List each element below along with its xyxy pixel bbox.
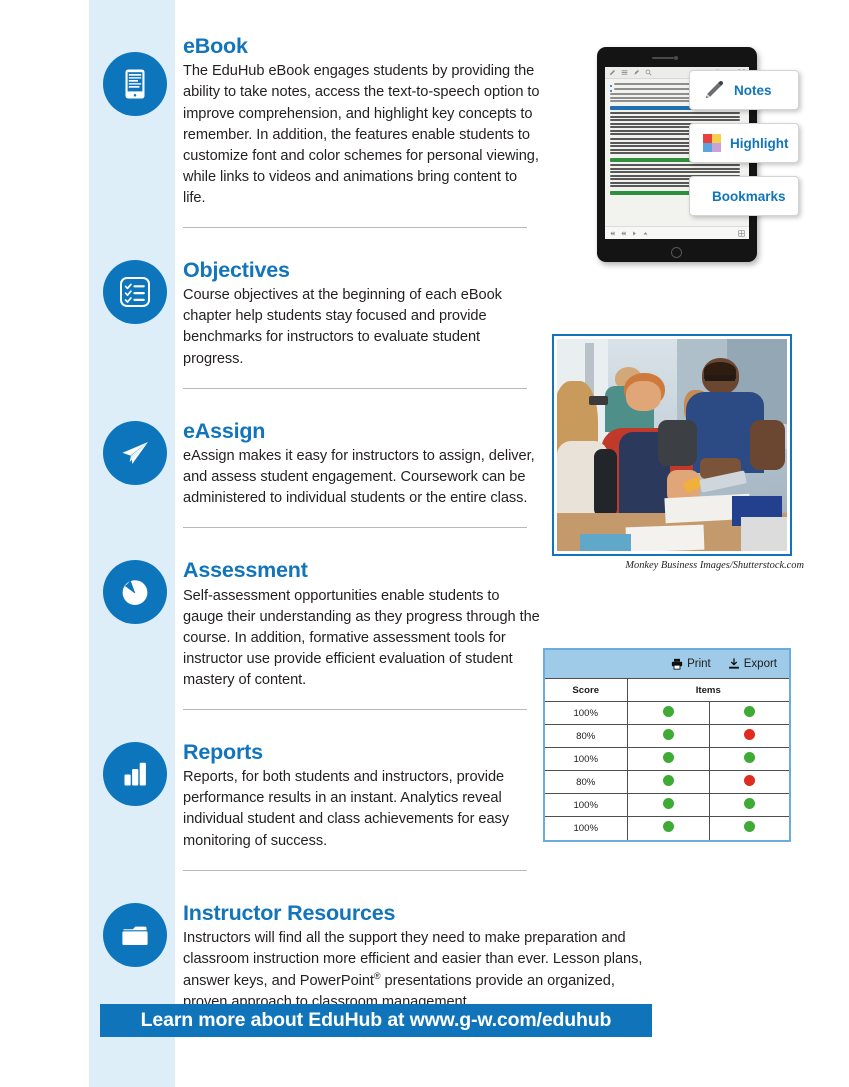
feature-body: Course objectives at the beginning of ea… [183, 285, 540, 369]
footer-cta-banner[interactable]: Learn more about EduHub at www.g-w.com/e… [100, 1004, 652, 1037]
status-dot-correct [744, 798, 755, 809]
page-line [610, 112, 740, 114]
export-icon [728, 658, 740, 670]
feature-divider [183, 709, 527, 710]
table-header-row: Score Items [545, 679, 789, 702]
callout-notes[interactable]: Notes [689, 70, 799, 110]
feature-reports: Reports Reports, for both students and i… [100, 724, 540, 885]
bar-chart-icon [103, 742, 167, 806]
status-dot-correct [744, 752, 755, 763]
tablet-home-button[interactable] [671, 247, 682, 258]
tablet-speaker [652, 57, 674, 59]
cell-score: 80% [545, 725, 627, 748]
folder-icon [103, 903, 167, 967]
color-swatches-icon [703, 134, 721, 152]
status-dot-incorrect [744, 729, 755, 740]
tablet-ebook-icon [103, 52, 167, 116]
feature-divider [183, 227, 527, 228]
cell-item-status [709, 794, 789, 817]
reports-table: Print Export Score Items 100%80%100%80%1… [543, 648, 791, 842]
feature-title: Instructor Resources [183, 901, 540, 926]
feature-title: Objectives [183, 258, 540, 283]
table-row: 100% [545, 794, 789, 817]
page-line [610, 168, 740, 170]
paper-plane-icon [103, 421, 167, 485]
page-heading [610, 158, 694, 162]
photo-credit-caption: Monkey Business Images/Shutterstock.com [552, 560, 804, 571]
status-dot-correct [663, 798, 674, 809]
list-icon [621, 69, 628, 76]
cell-item-status [627, 748, 709, 771]
first-page-icon [609, 230, 616, 237]
status-dot-correct [663, 706, 674, 717]
feature-assessment: Assessment Self-assessment opportunities… [100, 542, 540, 724]
table-row: 100% [545, 702, 789, 725]
tablet-illustration: Notes Highlight Bookmarks [597, 42, 797, 267]
cell-score: 100% [545, 817, 627, 840]
table-action-bar: Print Export [545, 650, 789, 678]
page-line [610, 116, 740, 118]
page-line [610, 164, 740, 166]
cell-item-status [627, 817, 709, 840]
classroom-photo [552, 334, 792, 556]
next-page-icon [631, 230, 638, 237]
callout-label: Bookmarks [712, 189, 786, 204]
cell-item-status [709, 771, 789, 794]
pencil-icon [703, 79, 725, 101]
classroom-photo-image [557, 339, 787, 551]
callout-label: Highlight [730, 136, 788, 151]
checklist-icon [103, 260, 167, 324]
cell-item-status [709, 748, 789, 771]
feature-title: eAssign [183, 419, 540, 444]
status-dot-correct [744, 821, 755, 832]
feature-ebook: eBook The EduHub eBook engages students … [100, 34, 540, 242]
pie-chart-icon [103, 560, 167, 624]
feature-list: eBook The EduHub eBook engages students … [100, 34, 540, 1027]
cell-item-status [627, 702, 709, 725]
search-icon [645, 69, 652, 76]
page-line [610, 119, 740, 121]
cell-score: 100% [545, 748, 627, 771]
page-line [610, 171, 740, 173]
feature-divider [183, 870, 527, 871]
feature-divider [183, 388, 527, 389]
status-dot-correct [744, 706, 755, 717]
status-dot-correct [663, 729, 674, 740]
tablet-camera-icon [674, 56, 678, 60]
registered-mark: ® [374, 971, 381, 981]
export-label: Export [744, 658, 777, 670]
feature-body: The EduHub eBook engages students by pro… [183, 61, 540, 209]
export-button[interactable]: Export [728, 658, 777, 670]
status-dot-correct [663, 775, 674, 786]
printer-icon [671, 658, 683, 670]
cell-score: 80% [545, 771, 627, 794]
callout-bookmarks[interactable]: Bookmarks [689, 176, 799, 216]
feature-objectives: Objectives Course objectives at the begi… [100, 242, 540, 403]
cell-score: 100% [545, 702, 627, 725]
table-body: 100%80%100%80%100%100% [545, 702, 789, 840]
cell-item-status [709, 702, 789, 725]
table-row: 100% [545, 748, 789, 771]
scores-table: Score Items 100%80%100%80%100%100% [545, 678, 789, 840]
feature-body: Reports, for both students and instructo… [183, 767, 540, 851]
column-header-score: Score [545, 679, 627, 702]
status-dot-correct [663, 752, 674, 763]
callout-label: Notes [734, 83, 772, 98]
pen-icon [609, 69, 616, 76]
prev-page-icon [620, 230, 627, 237]
feature-body: Instructors will find all the support th… [183, 928, 653, 1013]
table-row: 100% [545, 817, 789, 840]
cell-item-status [709, 725, 789, 748]
cell-item-status [709, 817, 789, 840]
feature-eassign: eAssign eAssign makes it easy for instru… [100, 403, 540, 543]
column-header-items: Items [627, 679, 789, 702]
grid-view-icon [738, 230, 745, 237]
feature-body: Self-assessment opportunities enable stu… [183, 586, 540, 691]
status-dot-incorrect [744, 775, 755, 786]
print-label: Print [687, 658, 711, 670]
cell-item-status [627, 771, 709, 794]
ebook-nav-bar[interactable] [605, 226, 749, 239]
cell-score: 100% [545, 794, 627, 817]
feature-body: eAssign makes it easy for instructors to… [183, 446, 540, 509]
feature-title: Assessment [183, 558, 540, 583]
cell-item-status [627, 725, 709, 748]
feature-title: eBook [183, 34, 540, 59]
print-button[interactable]: Print [671, 658, 711, 670]
feature-divider [183, 527, 527, 528]
table-row: 80% [545, 771, 789, 794]
status-dot-correct [663, 821, 674, 832]
callout-highlight[interactable]: Highlight [689, 123, 799, 163]
feature-title: Reports [183, 740, 540, 765]
cell-item-status [627, 794, 709, 817]
highlighter-icon [633, 69, 640, 76]
table-row: 80% [545, 725, 789, 748]
up-icon [642, 230, 649, 237]
